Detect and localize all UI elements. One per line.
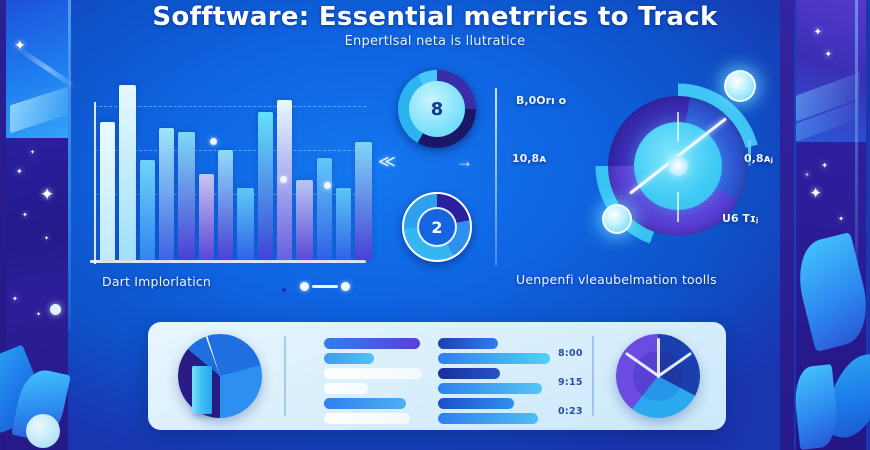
bar-13 [336, 188, 351, 260]
left-vertical-line [68, 0, 71, 330]
slider-toggle-icon[interactable] [300, 282, 350, 291]
caption-right: Uenpenfi vleaubelmation toolls [516, 272, 717, 287]
sparkle-icon: ✦ [824, 50, 832, 59]
sparkle-icon: ✦ [22, 212, 28, 219]
gauge-label-1: B,0Orı o [516, 94, 566, 107]
bar-2 [119, 85, 136, 260]
page-title: Sofftware: Essential metrrics to Track [0, 2, 870, 32]
summary-card: 8:009:150:23 [148, 322, 726, 430]
infographic-canvas: ✦ ✦ ✦ ✦ ✦ ✦ ✦ ✦ ✦ ✦ ✦ ✦ ✦ ✦ Sofftware: E… [0, 0, 870, 450]
card-value-2: 9:15 [558, 377, 583, 388]
slider-knob-left [300, 282, 309, 291]
card-divider-right [592, 336, 594, 416]
left-decor-panel: ✦ ✦ ✦ ✦ ✦ ✦ ✦ ✦ [0, 0, 86, 450]
bar-12 [317, 158, 332, 260]
donut-gauge-top-value: 8 [431, 99, 444, 120]
section-divider [495, 88, 497, 266]
bar-11 [296, 180, 313, 260]
sparkle-icon: ✦ [30, 150, 35, 156]
decor-bubble [26, 414, 60, 448]
bar-8 [237, 188, 254, 260]
right-dark-strip [780, 0, 794, 450]
gauge-label-4: U6 Tɪⱼ [722, 212, 758, 225]
pie-chart-with-bar[interactable] [178, 334, 262, 418]
sparkle-icon: ✦ [44, 236, 49, 242]
bar-3 [140, 160, 155, 260]
card-row-col1-3 [324, 368, 422, 379]
card-row-col2-2 [438, 353, 550, 364]
donut-gauge-top-center: 8 [409, 81, 465, 137]
bar-chart-y-axis [94, 102, 96, 264]
gauge-label-2: 10,8ᴀ [512, 152, 546, 165]
donut-gauge-bottom-center: 2 [417, 207, 457, 247]
next-arrow-icon[interactable]: → [456, 152, 473, 172]
gauge-label-3: 0,8ᴀⱼ [744, 152, 773, 165]
bar-5 [178, 132, 195, 260]
sparkle-icon: ✦ [12, 296, 18, 303]
donut-gauge-bottom[interactable]: 2 [402, 192, 472, 262]
pie-overlay-bar [192, 366, 212, 414]
note-dot-icon [280, 176, 287, 183]
pie-slice-separator [178, 334, 262, 418]
right-decor-panel: ✦ ✦ ✦ ✦ ✦ ✦ [780, 0, 870, 450]
decor-dot [50, 304, 61, 315]
gauge-node-lower[interactable] [602, 204, 632, 234]
card-row-col2-4 [438, 383, 542, 394]
card-row-col1-1 [324, 338, 420, 349]
sparkle-icon: ✦ [804, 172, 810, 179]
donut-gauge-bottom-value: 2 [431, 218, 442, 237]
bar-7 [218, 150, 233, 260]
slider-knob-right [341, 282, 350, 291]
bar-9 [258, 112, 273, 260]
caption-bullet-icon [282, 288, 286, 292]
card-row-col2-1 [438, 338, 498, 349]
card-row-col1-2 [324, 353, 374, 364]
bar-chart [86, 58, 366, 263]
bar-1 [100, 122, 115, 260]
bar-4 [159, 128, 174, 260]
slider-track [312, 285, 338, 288]
sparkle-icon: ✦ [40, 186, 54, 203]
sparkle-icon: ✦ [36, 312, 41, 318]
card-row-col1-6 [324, 413, 410, 424]
sparkle-icon: ✦ [821, 162, 828, 170]
gauge-node-upper[interactable] [724, 70, 756, 102]
card-value-1: 8:00 [558, 348, 583, 359]
card-row-col1-5 [324, 398, 406, 409]
bar-6 [199, 174, 214, 260]
card-value-3: 0:23 [558, 406, 583, 417]
gauge-tick-top [677, 112, 679, 142]
left-panel-starfield-1 [6, 138, 68, 290]
bar-chart-x-axis [90, 260, 366, 263]
donut-gauge-top[interactable]: 8 [398, 70, 476, 148]
segmented-pie-chart[interactable] [616, 334, 700, 418]
gauge-hub [668, 156, 688, 176]
card-divider-left [284, 336, 286, 416]
page-subtitle: Enpertlsal neta is llutratice [0, 34, 870, 49]
gauge-tick-bottom [677, 192, 679, 222]
note-dot-icon [210, 138, 217, 145]
caption-left: Dart Implorlaticn [102, 274, 211, 289]
prev-arrow-icon[interactable]: ≪ [378, 152, 396, 172]
sparkle-icon: ✦ [838, 216, 844, 223]
bar-14 [355, 142, 372, 260]
card-row-col2-5 [438, 398, 514, 409]
note-dot-icon [324, 182, 331, 189]
sparkle-icon: ✦ [16, 168, 23, 176]
card-row-col2-6 [438, 413, 538, 424]
card-row-col2-3 [438, 368, 500, 379]
card-row-col1-4 [324, 383, 368, 394]
sparkle-icon: ✦ [809, 186, 822, 201]
